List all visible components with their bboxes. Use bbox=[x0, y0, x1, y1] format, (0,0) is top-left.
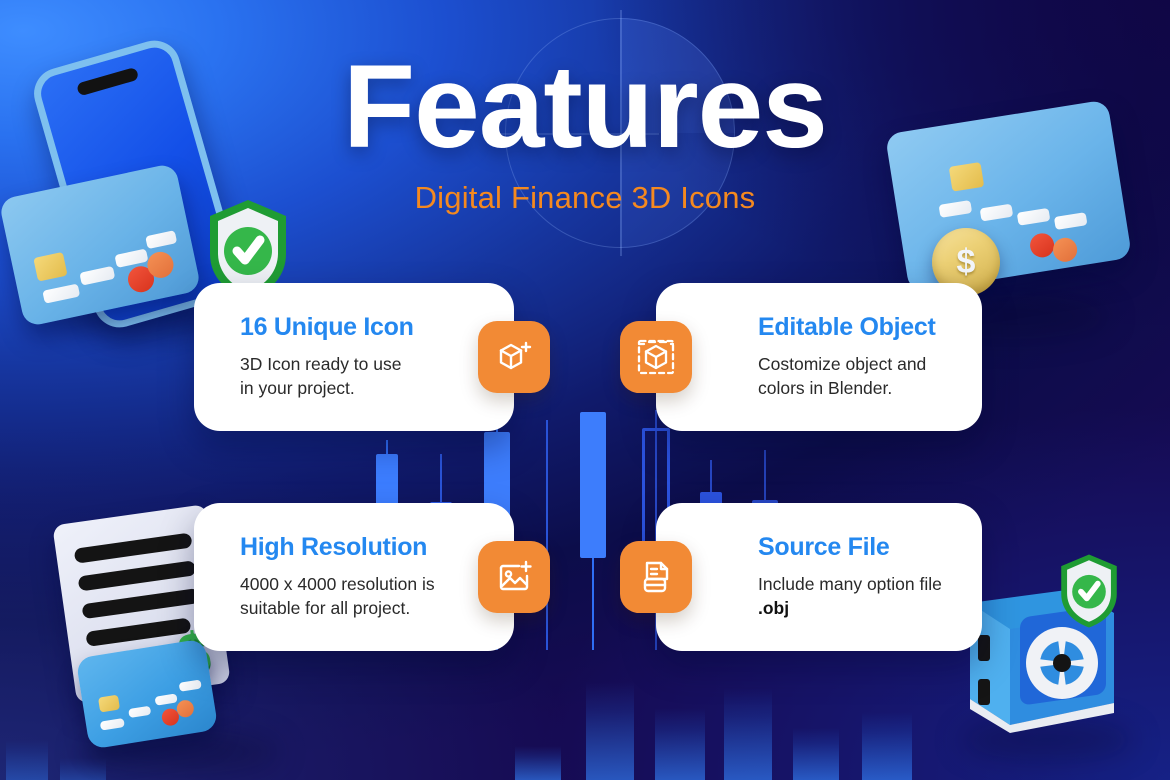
document-icon[interactable] bbox=[620, 541, 692, 613]
card-body-line2: in your project. bbox=[240, 378, 355, 398]
candle bbox=[544, 420, 549, 650]
card-title: High Resolution bbox=[240, 534, 435, 562]
card-title: Editable Object bbox=[758, 314, 935, 342]
card-stripe bbox=[128, 706, 151, 718]
poster-canvas: $ $ bbox=[0, 0, 1170, 780]
card-body-line2: colors in Blender. bbox=[758, 378, 892, 398]
card-body: 4000 x 4000 resolution is suitable for a… bbox=[240, 572, 435, 620]
card-body: Costomize object and colors in Blender. bbox=[758, 352, 935, 400]
card-body: Include many option file .obj bbox=[758, 572, 942, 620]
card-stripe bbox=[179, 679, 202, 691]
card-body-line1: Costomize object and bbox=[758, 354, 926, 374]
feature-card-editable-object[interactable]: Editable Object Costomize object and col… bbox=[656, 283, 982, 431]
card-text-block: Editable Object Costomize object and col… bbox=[758, 314, 935, 401]
page-header: Features Digital Finance 3D Icons bbox=[0, 48, 1170, 216]
page-subtitle: Digital Finance 3D Icons bbox=[0, 180, 1170, 216]
document-line bbox=[78, 560, 197, 591]
card-body-line1: 3D Icon ready to use bbox=[240, 354, 401, 374]
card-title: Source File bbox=[758, 534, 942, 562]
card-stripe bbox=[42, 284, 80, 304]
feature-card-source-file[interactable]: Source File Include many option file .ob… bbox=[656, 503, 982, 651]
card-logo-dot-orange bbox=[1051, 236, 1078, 263]
candle bbox=[580, 412, 606, 650]
card-body-line1: 4000 x 4000 resolution is bbox=[240, 574, 435, 594]
card-stripe bbox=[155, 693, 178, 705]
feature-card-unique-icon[interactable]: 16 Unique Icon 3D Icon ready to use in y… bbox=[194, 283, 514, 431]
shield-check-3d bbox=[1058, 553, 1120, 629]
dollar-sign-glyph: $ bbox=[957, 243, 976, 282]
card-title: 16 Unique Icon bbox=[240, 314, 414, 342]
card-body-line2: suitable for all project. bbox=[240, 598, 410, 618]
card-stripe bbox=[100, 718, 125, 731]
card-text-block: Source File Include many option file .ob… bbox=[758, 534, 942, 621]
page-title: Features bbox=[0, 48, 1170, 166]
card-chip bbox=[98, 695, 120, 713]
document-line bbox=[81, 588, 200, 619]
bar bbox=[515, 746, 561, 780]
bar bbox=[586, 682, 634, 780]
bar bbox=[6, 740, 48, 780]
document-line bbox=[74, 532, 193, 563]
card-chip bbox=[33, 252, 67, 282]
card-stripe bbox=[145, 230, 177, 249]
cube-selection-icon[interactable] bbox=[620, 321, 692, 393]
cube-plus-icon[interactable] bbox=[478, 321, 550, 393]
bar bbox=[655, 708, 705, 780]
bar bbox=[793, 728, 839, 780]
card-body-file-extension: .obj bbox=[758, 598, 789, 618]
card-body-line1: Include many option file bbox=[758, 574, 942, 594]
image-plus-icon[interactable] bbox=[478, 541, 550, 613]
card-text-block: 16 Unique Icon 3D Icon ready to use in y… bbox=[240, 314, 414, 401]
card-stripe bbox=[79, 266, 115, 286]
card-body: 3D Icon ready to use in your project. bbox=[240, 352, 414, 400]
card-text-block: High Resolution 4000 x 4000 resolution i… bbox=[240, 534, 435, 621]
bar bbox=[724, 688, 772, 780]
card-stripe bbox=[114, 249, 148, 268]
bar bbox=[862, 712, 912, 780]
feature-card-high-resolution[interactable]: High Resolution 4000 x 4000 resolution i… bbox=[194, 503, 514, 651]
card-logo-dot-red bbox=[1028, 232, 1055, 259]
